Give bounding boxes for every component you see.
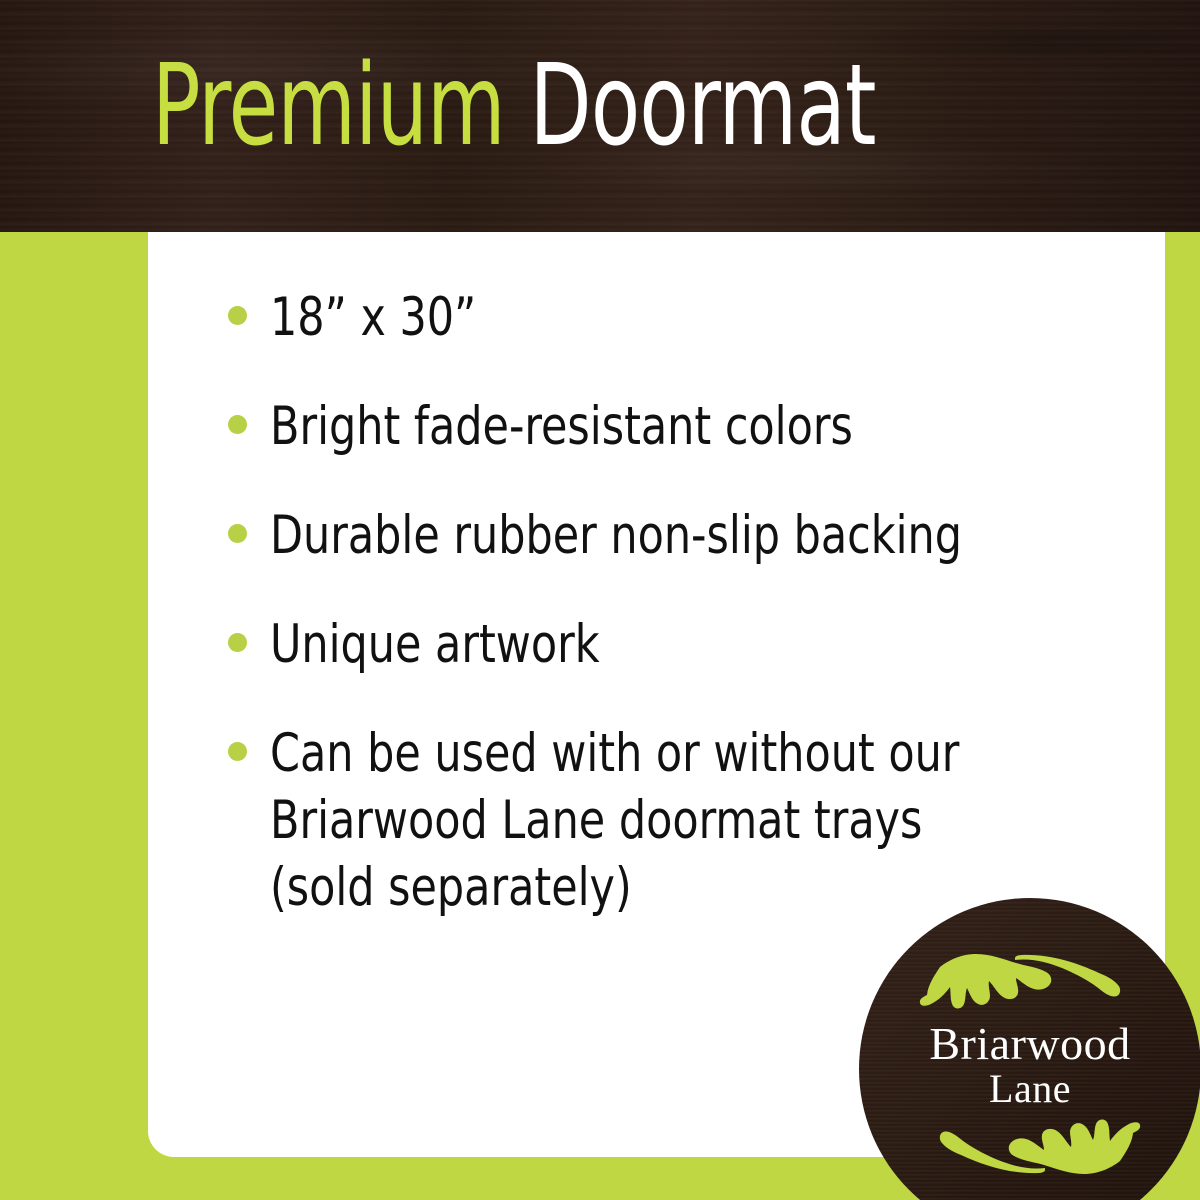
- list-item-label: Bright fade-resistant colors: [270, 393, 853, 460]
- feature-list: 18” x 30” Bright fade-resistant colors D…: [228, 284, 1098, 921]
- list-item: Unique artwork: [228, 611, 1098, 678]
- page-title: Premium Doormat: [152, 50, 876, 162]
- list-item: 18” x 30”: [228, 284, 1098, 351]
- sidebar-panel: [0, 232, 148, 1200]
- page-title-main: Doormat: [530, 41, 876, 171]
- bullet-dot-icon: [228, 524, 247, 543]
- product-feature-card: Premium Doormat Premium Outdoor Decor 18…: [0, 0, 1200, 1200]
- brand-logo-badge: Briarwood Lane: [859, 898, 1200, 1200]
- header-banner: Premium Doormat: [0, 0, 1200, 232]
- bullet-dot-icon: [228, 742, 247, 761]
- brand-name-line-1: Briarwood: [929, 1020, 1130, 1068]
- list-item-label: 18” x 30”: [270, 284, 476, 351]
- list-item-label: Unique artwork: [270, 611, 600, 678]
- page-title-accent: Premium: [152, 41, 530, 171]
- brand-name-line-2: Lane: [989, 1068, 1071, 1110]
- oak-leaf-flourish-icon: [919, 948, 1141, 1012]
- list-item: Can be used with or without our Briarwoo…: [228, 720, 1098, 921]
- list-item-label: Durable rubber non-slip backing: [270, 502, 962, 569]
- list-item: Bright fade-resistant colors: [228, 393, 1098, 460]
- bullet-dot-icon: [228, 415, 247, 434]
- oak-leaf-flourish-icon: [919, 1116, 1141, 1180]
- list-item-label: Can be used with or without our Briarwoo…: [270, 720, 959, 921]
- bullet-dot-icon: [228, 633, 247, 652]
- list-item: Durable rubber non-slip backing: [228, 502, 1098, 569]
- bullet-dot-icon: [228, 306, 247, 325]
